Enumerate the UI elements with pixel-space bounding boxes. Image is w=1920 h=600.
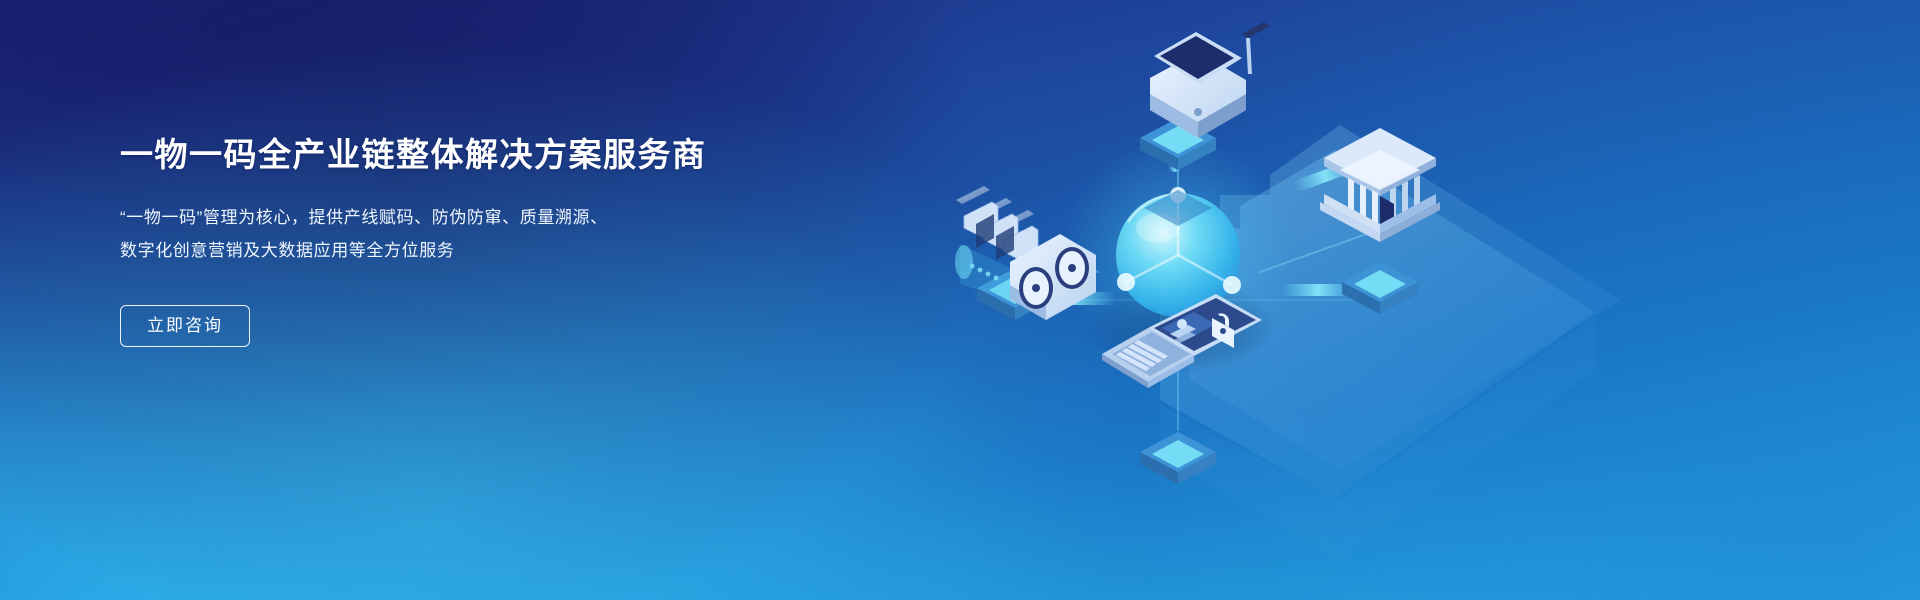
hero-subtitle-line-1: “一物一码”管理为核心，提供产线赋码、防伪防窜、质量溯源、 bbox=[120, 201, 680, 234]
hero-illustration bbox=[860, 0, 1680, 600]
pos-terminal-icon bbox=[1150, 0, 1270, 138]
hero-copy-block: 一物一码全产业链整体解决方案服务商 “一物一码”管理为核心，提供产线赋码、防伪防… bbox=[120, 136, 840, 347]
hero-subtitle: “一物一码”管理为核心，提供产线赋码、防伪防窜、质量溯源、 数字化创意营销及大数… bbox=[120, 201, 680, 267]
hero-banner: 一物一码全产业链整体解决方案服务商 “一物一码”管理为核心，提供产线赋码、防伪防… bbox=[0, 0, 1920, 600]
hero-subtitle-line-2: 数字化创意营销及大数据应用等全方位服务 bbox=[120, 234, 680, 267]
consult-now-button[interactable]: 立即咨询 bbox=[120, 305, 250, 347]
page-title: 一物一码全产业链整体解决方案服务商 bbox=[120, 136, 840, 175]
